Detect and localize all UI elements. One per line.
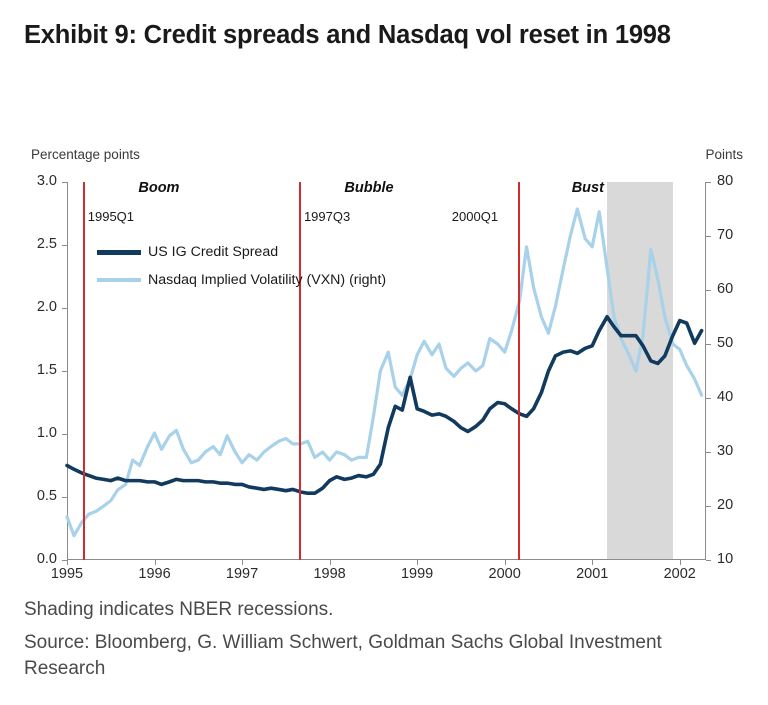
x-axis-tick <box>155 560 156 565</box>
x-axis-tick <box>67 560 68 565</box>
x-axis-tick-label: 1999 <box>401 566 433 582</box>
x-axis-tick <box>592 560 593 565</box>
y-axis-tick-label: 1.0 <box>7 425 67 441</box>
y-axis-tick-label: 3.0 <box>7 173 67 189</box>
y2-axis-tick-label: 30 <box>706 443 766 459</box>
legend-swatch-credit-spread <box>97 250 141 255</box>
event-marker-line <box>83 182 85 560</box>
x-axis-tick <box>505 560 506 565</box>
event-date-label: 1997Q3 <box>304 209 350 224</box>
x-axis-tick-label: 1998 <box>313 566 345 582</box>
event-date-label: 2000Q1 <box>452 209 498 224</box>
y2-axis-tick-label: 60 <box>706 281 766 297</box>
chart-area: Percentage points Points 0.00.51.01.52.0… <box>0 140 768 590</box>
y2-axis-tick-label: 20 <box>706 497 766 513</box>
page-title: Exhibit 9: Credit spreads and Nasdaq vol… <box>24 18 740 53</box>
x-axis-tick <box>330 560 331 565</box>
chart-legend: US IG Credit Spread Nasdaq Implied Volat… <box>97 244 386 300</box>
source-note: Source: Bloomberg, G. William Schwert, G… <box>24 630 736 682</box>
right-axis-caption: Points <box>705 147 743 162</box>
y2-axis-tick-label: 80 <box>706 173 766 189</box>
legend-swatch-vxn <box>97 278 141 282</box>
x-axis-tick-label: 2000 <box>489 566 521 582</box>
legend-label-vxn: Nasdaq Implied Volatility (VXN) (right) <box>148 272 386 288</box>
y2-axis-tick-label: 10 <box>706 551 766 567</box>
shading-note: Shading indicates NBER recessions. <box>24 596 736 624</box>
y-axis-tick-label: 1.5 <box>7 362 67 378</box>
y2-axis-tick-label: 50 <box>706 335 766 351</box>
x-axis-tick <box>242 560 243 565</box>
x-axis-tick <box>680 560 681 565</box>
y-axis-tick-label: 0.5 <box>7 488 67 504</box>
x-axis-tick-label: 2002 <box>664 566 696 582</box>
x-axis-tick-label: 2001 <box>576 566 608 582</box>
legend-item-credit-spread: US IG Credit Spread <box>97 244 386 260</box>
phase-label: Bust <box>572 180 604 196</box>
series-line <box>67 317 702 493</box>
y-axis-tick-label: 2.5 <box>7 236 67 252</box>
series-lines <box>67 182 706 560</box>
chart-footer: Shading indicates NBER recessions. Sourc… <box>24 596 736 682</box>
event-marker-line <box>299 182 301 560</box>
x-axis-tick-label: 1996 <box>138 566 170 582</box>
x-axis-tick-label: 1995 <box>51 566 83 582</box>
left-axis-caption: Percentage points <box>31 147 140 162</box>
exhibit-chart-card: Exhibit 9: Credit spreads and Nasdaq vol… <box>0 0 768 705</box>
phase-label: Boom <box>138 180 179 196</box>
y2-axis-tick-label: 70 <box>706 227 766 243</box>
plot-region: 0.00.51.01.52.02.53.0 1020304050607080 1… <box>67 182 706 560</box>
legend-item-vxn: Nasdaq Implied Volatility (VXN) (right) <box>97 272 386 288</box>
event-date-label: 1995Q1 <box>88 209 134 224</box>
x-axis-tick-label: 1997 <box>226 566 258 582</box>
y-axis-tick-label: 0.0 <box>7 551 67 567</box>
legend-label-credit-spread: US IG Credit Spread <box>148 244 278 260</box>
phase-label: Bubble <box>344 180 393 196</box>
y-axis-tick-label: 2.0 <box>7 299 67 315</box>
event-marker-line <box>518 182 520 560</box>
y2-axis-tick-label: 40 <box>706 389 766 405</box>
x-axis-tick <box>417 560 418 565</box>
